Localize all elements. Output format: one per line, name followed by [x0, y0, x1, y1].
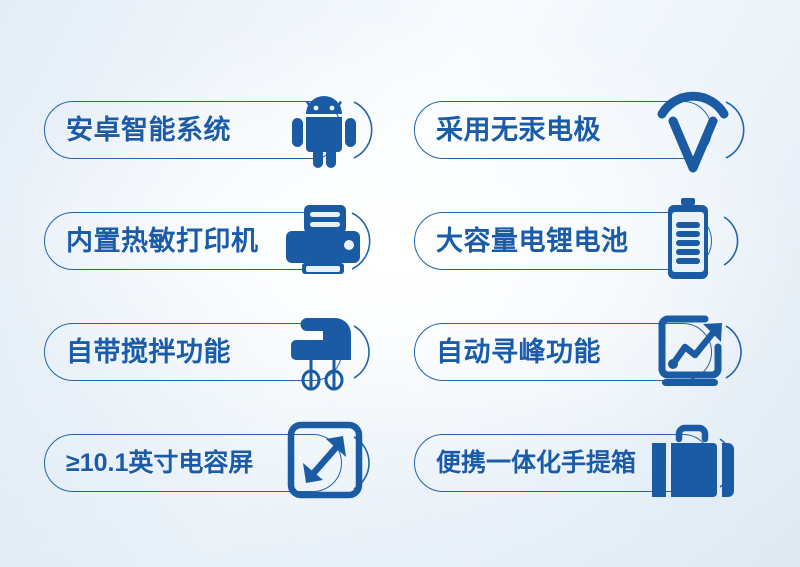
feature-highlights-page: 安卓智能系统	[0, 0, 800, 567]
feature-item-screen[interactable]: ≥10.1英寸电容屏	[44, 417, 384, 509]
feature-item-peak-find[interactable]: 自动寻峰功能	[414, 306, 754, 398]
feature-label: 自带搅拌功能	[66, 323, 231, 381]
feature-item-printer[interactable]: 内置热敏打印机	[44, 195, 384, 287]
feature-item-battery[interactable]: 大容量电锂电池	[414, 195, 754, 287]
briefcase-icon	[652, 417, 754, 509]
electrode-peak-icon	[652, 84, 754, 176]
feature-item-android[interactable]: 安卓智能系统	[44, 84, 384, 176]
feature-item-electrode[interactable]: 采用无汞电极	[414, 84, 754, 176]
battery-icon	[652, 195, 754, 287]
printer-icon	[282, 195, 384, 287]
android-robot-icon	[282, 84, 384, 176]
trending-chart-icon	[652, 306, 754, 398]
feature-label: 大容量电锂电池	[436, 212, 629, 270]
feature-label: 内置热敏打印机	[66, 212, 259, 270]
feature-item-mixer[interactable]: 自带搅拌功能	[44, 306, 384, 398]
hand-mixer-icon	[282, 306, 384, 398]
feature-label: 采用无汞电极	[436, 101, 601, 159]
expand-arrows-icon	[282, 417, 384, 509]
feature-label: 安卓智能系统	[66, 101, 231, 159]
feature-label: ≥10.1英寸电容屏	[66, 434, 253, 492]
feature-grid: 安卓智能系统	[0, 0, 800, 567]
feature-item-case[interactable]: 便携一体化手提箱	[414, 417, 754, 509]
feature-label: 自动寻峰功能	[436, 323, 601, 381]
feature-label: 便携一体化手提箱	[436, 434, 636, 492]
